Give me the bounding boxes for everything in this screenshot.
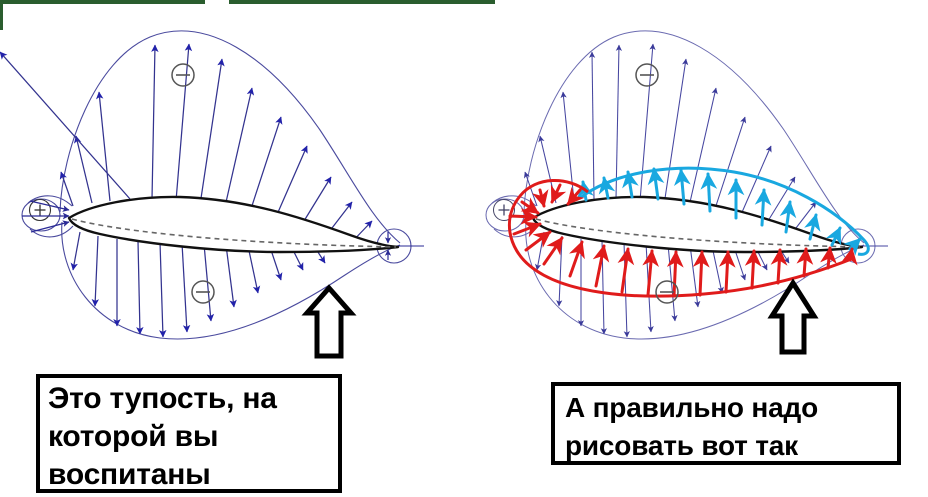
plus-sign-glyph [35,205,46,216]
caption-box-right: А правильно надо рисовать вот так [551,382,901,465]
minus-sign-circle-upper [172,64,194,86]
minus-sign-circle-lower [192,281,214,303]
caption-left-line-2: которой вы [48,418,338,456]
caption-right-line-2: рисовать вот так [565,427,897,465]
plus-sign-glyph [499,205,510,216]
white-block-arrow-up [772,283,814,352]
caption-left-line-3: воспитаны [48,456,338,494]
caption-box-left: Это тупость, на которой вы воспитаны [36,374,342,493]
airfoil-section [69,197,398,252]
caption-right-line-1: А правильно надо [565,389,897,427]
white-block-arrow-up [307,288,351,356]
minus-sign-circle-upper [636,64,658,86]
caption-left-line-1: Это тупость, на [48,380,338,418]
screenshot-root: Это тупость, на которой вы воспитаны А п… [0,0,928,497]
